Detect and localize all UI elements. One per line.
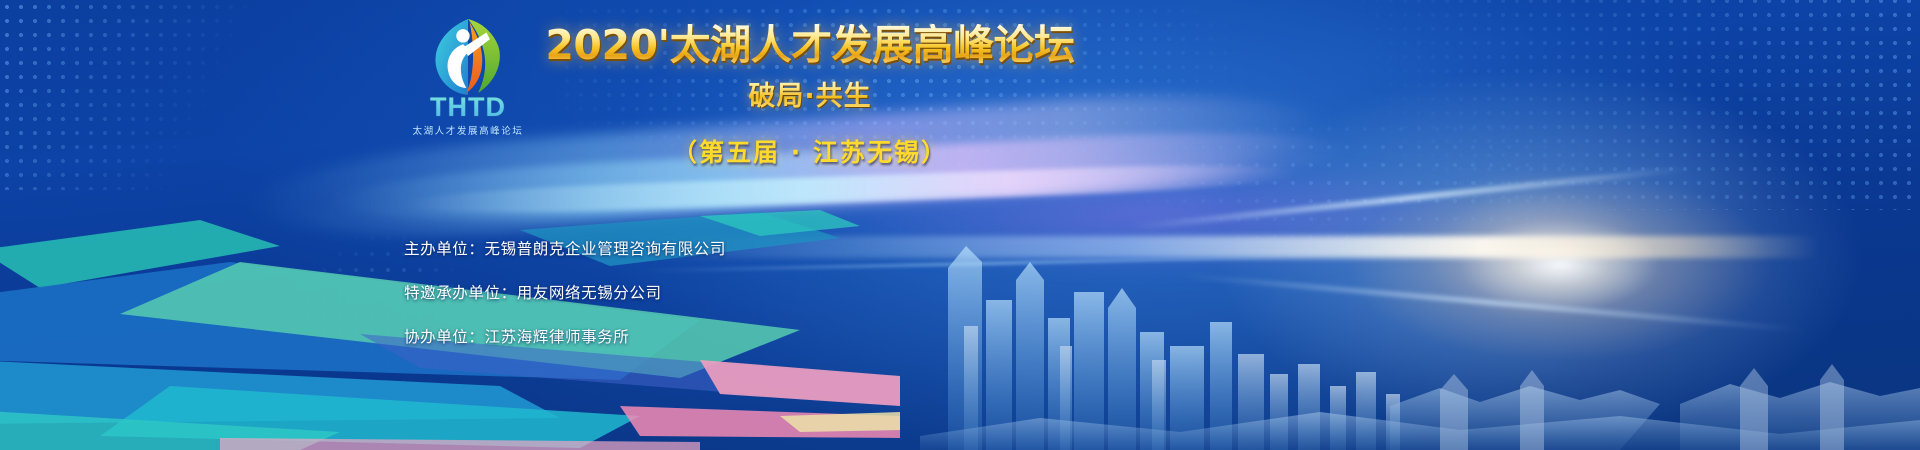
logo-acronym: THTD [408,94,528,121]
title-block: 2020'太湖人才发展高峰论坛 破局·共生 [540,24,1080,113]
organizer-supporter: 协办单位：江苏海辉律师事务所 [404,325,726,347]
conference-banner: THTD 太湖人才发展高峰论坛 2020'太湖人才发展高峰论坛 破局·共生 （第… [0,0,1920,450]
dot-matrix-pattern-top-left [0,0,250,190]
thtd-emblem-icon [426,14,510,98]
event-logo: THTD 太湖人才发展高峰论坛 [408,14,528,124]
page-subtitle: 破局·共生 [540,74,1080,113]
page-title: 2020'太湖人才发展高峰论坛 [540,24,1080,67]
organizer-co-host: 特邀承办单位：用友网络无锡分公司 [404,281,726,303]
organizer-list: 主办单位：无锡普朗克企业管理咨询有限公司 特邀承办单位：用友网络无锡分公司 协办… [404,237,726,347]
organizer-host: 主办单位：无锡普朗克企业管理咨询有限公司 [404,237,726,259]
city-skyline-illustration [920,150,1920,450]
edition-location-line: （第五届 · 江苏无锡） [560,133,1060,169]
logo-subtitle: 太湖人才发展高峰论坛 [408,123,528,137]
